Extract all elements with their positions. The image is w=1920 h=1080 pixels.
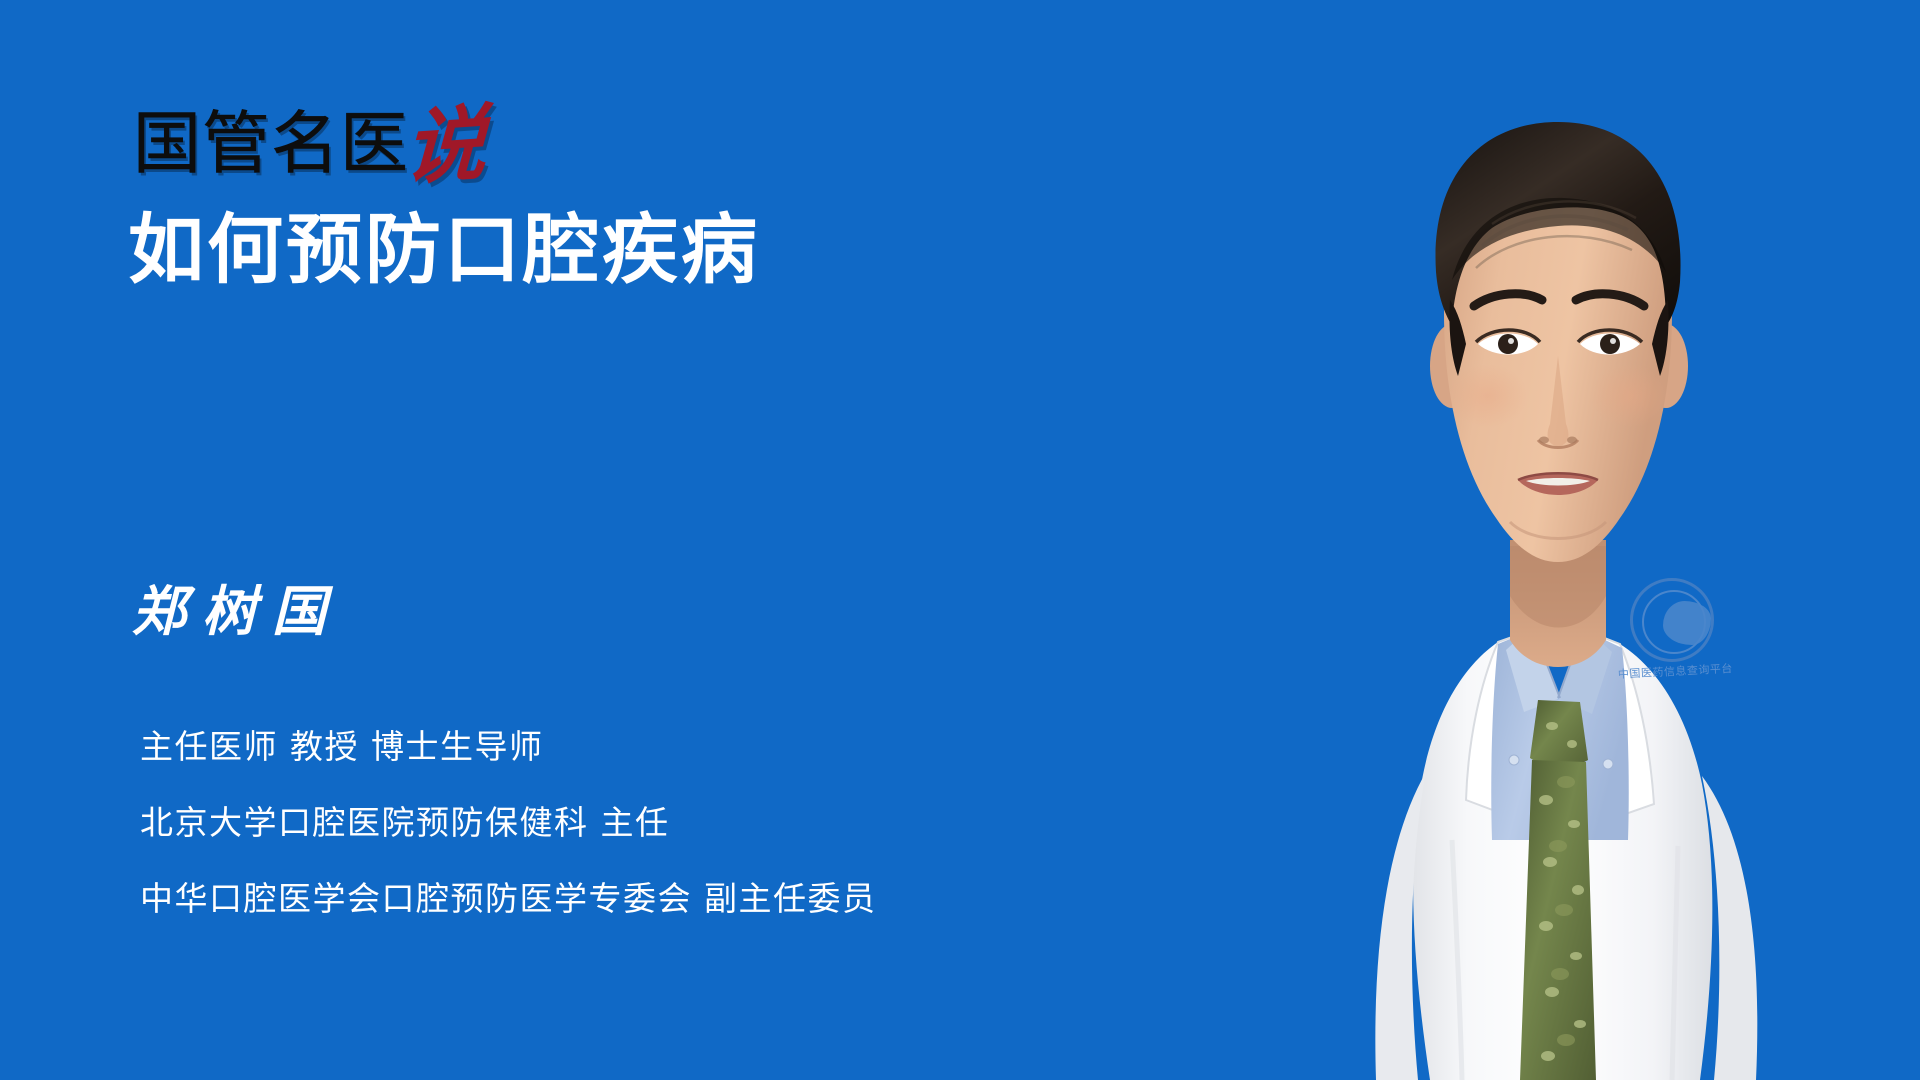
doctor-portrait-photo [1180, 0, 1920, 1080]
page-title: 如何预防口腔疾病 [128, 206, 760, 294]
brand-logo: 国管名医 说 [133, 88, 485, 180]
brand-logo-main-text: 国管名医 [133, 110, 409, 180]
brand-logo-accent-text: 说 [403, 108, 487, 184]
credential-line-1: 主任医师 教授 博士生导师 [140, 727, 877, 767]
necktie [1520, 700, 1596, 1080]
credential-line-2: 北京大学口腔医院预防保健科 主任 [140, 803, 877, 843]
speaker-name: 郑树国 [132, 578, 342, 644]
credential-line-3: 中华口腔医学会口腔预防医学专委会 副主任委员 [140, 879, 877, 919]
speaker-credentials: 主任医师 教授 博士生导师 北京大学口腔医院预防保健科 主任 中华口腔医学会口腔… [140, 727, 877, 919]
